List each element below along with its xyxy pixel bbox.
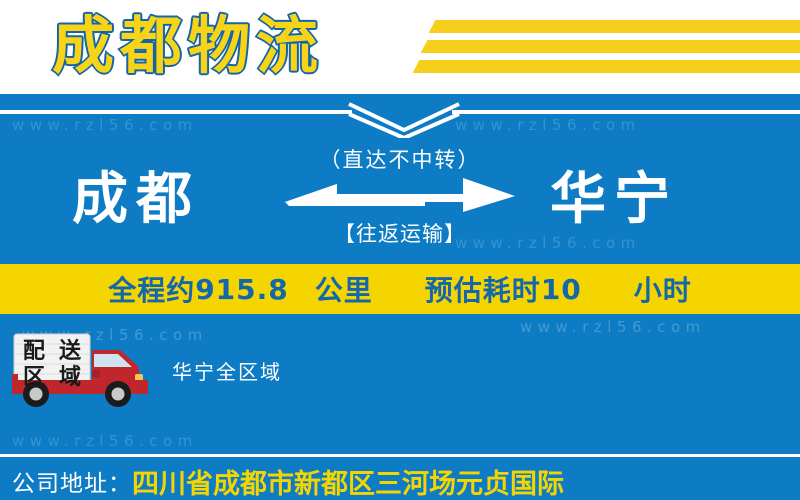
decorative-stripe-3 [413, 60, 800, 73]
decorative-stripe-1 [429, 20, 800, 33]
double-headed-arrow-icon [285, 176, 515, 214]
address-label: 公司地址： [0, 464, 132, 498]
origin-city: 成都 [72, 172, 200, 228]
duration-unit: 小时 [634, 269, 692, 309]
distance-value: 915.8 [195, 273, 289, 306]
route-note-top: （直达不中转） [292, 144, 508, 174]
page-title: 成都物流 [52, 2, 324, 90]
footer-divider [0, 454, 800, 457]
divider-rule-left [0, 110, 352, 114]
duration-value: 10 [541, 273, 582, 306]
delivery-truck-icon: 配 送 区 域 [8, 330, 156, 408]
truck-char-0: 配 [23, 339, 45, 364]
body-panel: www.rzl56.com www.rzl56.com www.rzl56.co… [0, 94, 800, 500]
decorative-stripe-2 [421, 40, 800, 53]
logistics-banner-poster: 成都物流 www.rzl56.com www.rzl56.com www.rzl… [0, 0, 800, 500]
address-value: 四川省成都市新都区三河场元贞国际 [132, 462, 564, 500]
chevron-down-icon [345, 100, 463, 138]
truck-char-2: 区 [23, 365, 45, 390]
distance-prefix: 全程约 [108, 269, 195, 309]
header-band: 成都物流 [0, 0, 800, 94]
metrics-text: 全程约915.8公里预估耗时10小时 [0, 264, 800, 314]
watermark: www.rzl56.com [12, 432, 198, 450]
watermark: www.rzl56.com [455, 116, 641, 134]
coverage-area-text: 华宁全区域 [172, 356, 282, 385]
divider-rule-right [452, 110, 800, 114]
truck-char-3: 域 [59, 364, 81, 390]
duration-prefix: 预估耗时 [425, 269, 541, 309]
watermark: www.rzl56.com [520, 318, 706, 336]
metrics-band: 全程约915.8公里预估耗时10小时 [0, 264, 800, 314]
truck-char-1: 送 [59, 338, 81, 364]
route-note-bottom: 【往返运输】 [292, 218, 508, 248]
distance-unit: 公里 [315, 269, 373, 309]
watermark: www.rzl56.com [12, 116, 198, 134]
destination-city: 华宁 [550, 172, 678, 228]
company-address-bar: 公司地址： 四川省成都市新都区三河场元贞国际 [0, 462, 800, 500]
